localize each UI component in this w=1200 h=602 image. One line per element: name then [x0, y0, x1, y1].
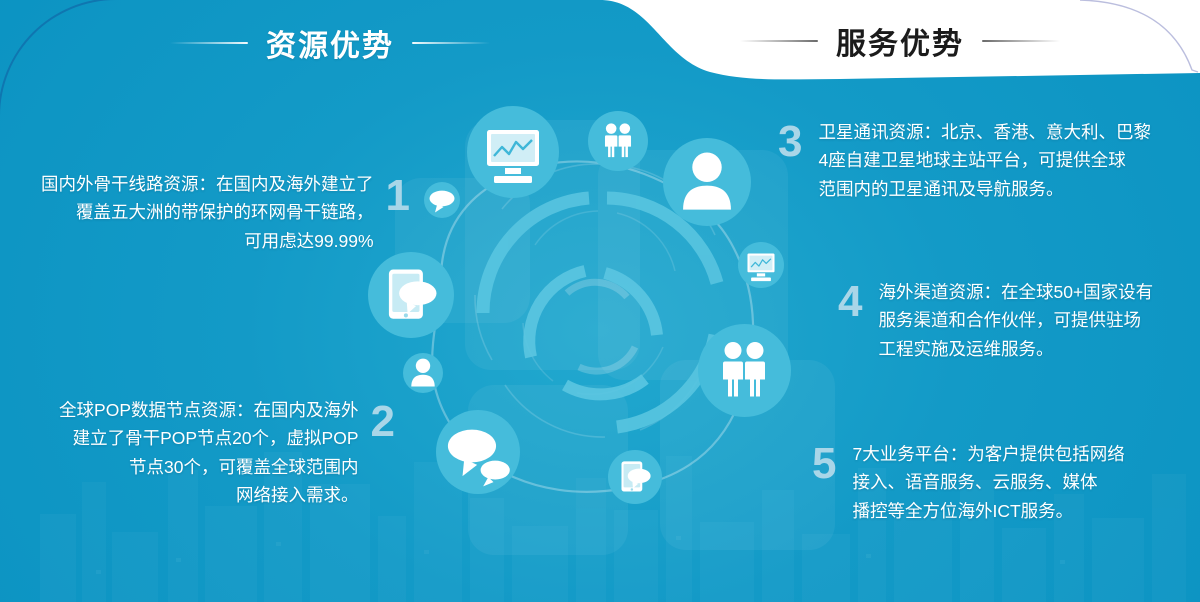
item-3: 3 卫星通讯资源：北京、香港、意大利、巴黎 4座自建卫星地球主站平台，可提供全球…: [778, 118, 1198, 203]
node-tablet-chat-small[interactable]: [608, 450, 662, 504]
node-chat-bubble-tiny[interactable]: [424, 182, 460, 218]
section-title-right-label: 服务优势: [836, 19, 964, 63]
item-3-number: 3: [778, 120, 802, 164]
section-title-right: 服务优势: [740, 19, 1060, 63]
tablet-chat-icon: [608, 242, 662, 602]
title-rule-right: [982, 40, 1060, 42]
central-network-graphic: [355, 85, 845, 555]
item-5: 5 7大业务平台：为客户提供包括网络 接入、语音服务、云服务、媒体 播控等全方位…: [812, 440, 1197, 525]
node-two-people-small[interactable]: [588, 111, 648, 171]
section-title-left-label: 资源优势: [266, 21, 394, 65]
item-1-number: 1: [386, 174, 410, 218]
item-4: 4 海外渠道资源：在全球50+国家设有 服务渠道和合作伙伴，可提供驻场 工程实施…: [838, 278, 1198, 363]
node-monitor-chart-large[interactable]: [467, 106, 559, 198]
item-2: 全球POP数据节点资源：在国内及海外 建立了骨干POP节点20个，虚拟POP 节…: [10, 396, 395, 509]
hub-node-group: [355, 85, 845, 555]
item-2-number: 2: [371, 400, 395, 444]
title-rule-left: [170, 42, 248, 44]
infographic-canvas: 资源优势 服务优势: [0, 0, 1200, 602]
item-3-text: 卫星通讯资源：北京、香港、意大利、巴黎 4座自建卫星地球主站平台，可提供全球 范…: [818, 118, 1151, 203]
item-4-text: 海外渠道资源：在全球50+国家设有 服务渠道和合作伙伴，可提供驻场 工程实施及运…: [878, 278, 1153, 363]
node-two-people-large[interactable]: [698, 324, 791, 417]
item-5-number: 5: [812, 442, 836, 486]
chat-bubble-icon: [424, 0, 460, 435]
item-1-text: 国内外骨干线路资源：在国内及海外建立了 覆盖五大洲的带保护的环网骨干链路， 可用…: [41, 170, 374, 255]
item-4-number: 4: [838, 280, 862, 324]
item-5-text: 7大业务平台：为客户提供包括网络 接入、语音服务、云服务、媒体 播控等全方位海外…: [852, 440, 1124, 525]
item-2-text: 全球POP数据节点资源：在国内及海外 建立了骨干POP节点20个，虚拟POP 节…: [59, 396, 358, 509]
item-1: 国内外骨干线路资源：在国内及海外建立了 覆盖五大洲的带保护的环网骨干链路， 可用…: [10, 170, 410, 255]
two-people-icon: [698, 136, 791, 602]
